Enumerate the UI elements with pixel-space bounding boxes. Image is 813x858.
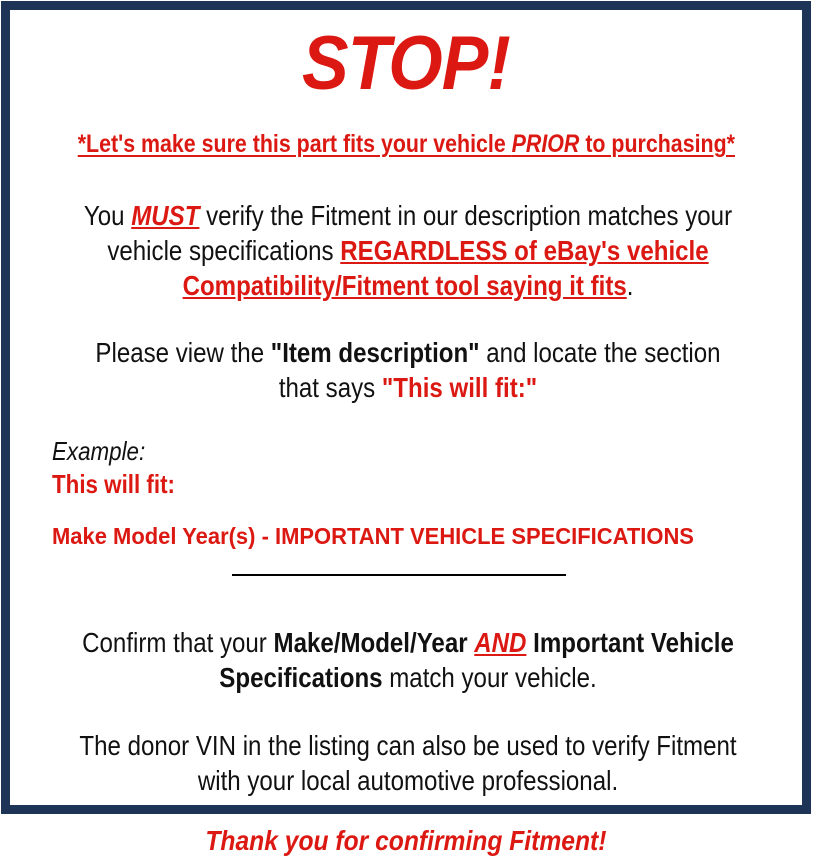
confirm-seg-1: Confirm that your bbox=[82, 627, 273, 658]
example-block: Example: This will fit: Make Model Year(… bbox=[18, 405, 794, 550]
notice-border: STOP! *Let's make sure this part fits yo… bbox=[1, 1, 811, 814]
example-spec-line: Make Model Year(s) - IMPORTANT VEHICLE S… bbox=[52, 500, 794, 550]
subtitle-after: to purchasing* bbox=[579, 130, 735, 158]
example-label: Example: bbox=[52, 436, 794, 466]
example-spec-line-text: Make Model Year(s) - IMPORTANT VEHICLE S… bbox=[52, 522, 694, 550]
closing-thanks: Thank you for confirming Fitment! bbox=[18, 798, 794, 858]
example-fit-heading: This will fit: bbox=[52, 466, 794, 500]
paragraph-confirm: Confirm that your Make/Model/Year AND Im… bbox=[18, 594, 798, 695]
example-label-text: Example: bbox=[52, 436, 145, 466]
must-seg-5: . bbox=[627, 270, 634, 301]
subtitle-emphasis-prior: PRIOR bbox=[511, 130, 579, 158]
headline-stop-text: STOP! bbox=[302, 26, 510, 102]
paragraph-item-description-text: Please view the "Item description" and l… bbox=[73, 335, 744, 405]
view-emphasis-item-description: "Item description" bbox=[271, 337, 480, 368]
confirm-emphasis-and: AND bbox=[474, 627, 526, 658]
subtitle-before: *Let's make sure this part fits your veh… bbox=[77, 130, 511, 158]
notice-frame: STOP! *Let's make sure this part fits yo… bbox=[0, 0, 813, 814]
must-seg-1: You bbox=[84, 200, 131, 231]
divider-rule bbox=[232, 574, 566, 576]
paragraph-donor-vin-text: The donor VIN in the listing can also be… bbox=[73, 728, 744, 798]
must-emphasis-must: MUST bbox=[131, 200, 199, 231]
divider-wrap bbox=[18, 550, 794, 594]
paragraph-donor-vin: The donor VIN in the listing can also be… bbox=[18, 695, 798, 798]
paragraph-confirm-text: Confirm that your Make/Model/Year AND Im… bbox=[73, 625, 744, 695]
subtitle-text: *Let's make sure this part fits your veh… bbox=[77, 130, 734, 158]
notice-body: STOP! *Let's make sure this part fits yo… bbox=[10, 10, 802, 805]
subtitle-line: *Let's make sure this part fits your veh… bbox=[18, 112, 794, 176]
view-seg-1: Please view the bbox=[95, 337, 270, 368]
headline-stop: STOP! bbox=[18, 10, 794, 112]
example-fit-heading-text: This will fit: bbox=[52, 468, 175, 500]
confirm-seg-5: match your vehicle. bbox=[383, 662, 597, 693]
view-emphasis-this-will-fit: "This will fit:" bbox=[382, 372, 537, 403]
closing-thanks-text: Thank you for confirming Fitment! bbox=[205, 824, 606, 858]
confirm-emphasis-make-model-year: Make/Model/Year bbox=[274, 627, 475, 658]
paragraph-item-description: Please view the "Item description" and l… bbox=[18, 303, 798, 405]
paragraph-must-verify-text: You MUST verify the Fitment in our descr… bbox=[73, 198, 744, 303]
paragraph-must-verify: You MUST verify the Fitment in our descr… bbox=[18, 176, 798, 303]
